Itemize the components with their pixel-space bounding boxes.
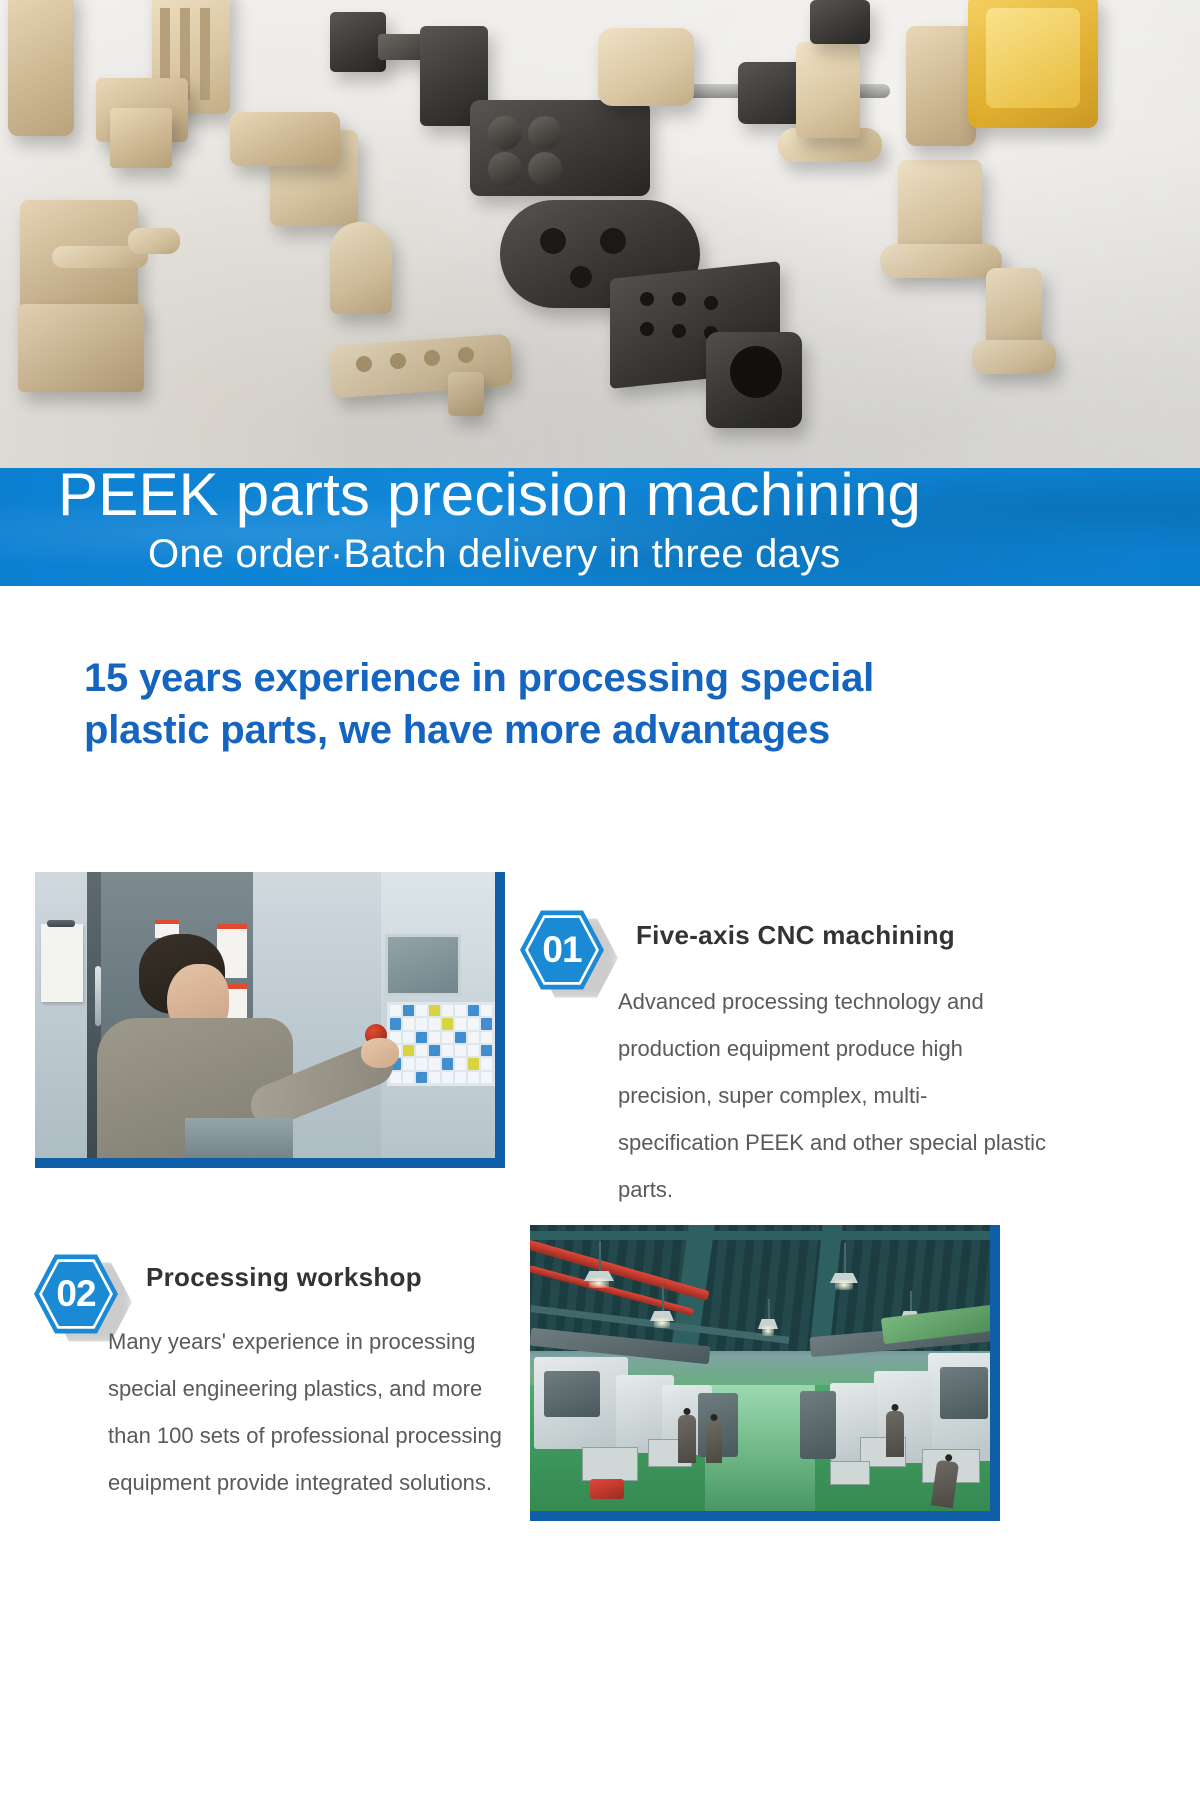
cnc-machining-photo	[35, 872, 505, 1168]
feature-badge-number-01: 01	[520, 908, 604, 992]
banner-subtitle: One order·Batch delivery in three days	[148, 526, 1148, 582]
feature-badge-01: 01	[520, 908, 604, 992]
hero-banner: PEEK parts precision machining One order…	[0, 468, 1200, 586]
feature-title-02: Processing workshop	[146, 1262, 422, 1293]
page-title: 15 years experience in processing specia…	[84, 652, 1084, 756]
page-title-line2: plastic parts, we have more advantages	[84, 704, 1084, 756]
feature-body-01: Advanced processing technology and produ…	[618, 978, 1048, 1213]
feature-body-02: Many years' experience in processing spe…	[108, 1318, 514, 1506]
processing-workshop-photo	[530, 1225, 1000, 1521]
feature-badge-number-02: 02	[34, 1252, 118, 1336]
page-title-line1: 15 years experience in processing specia…	[84, 652, 1084, 704]
hero-product-photo	[0, 0, 1200, 468]
feature-title-01: Five-axis CNC machining	[636, 920, 955, 951]
feature-badge-02: 02	[34, 1252, 118, 1336]
